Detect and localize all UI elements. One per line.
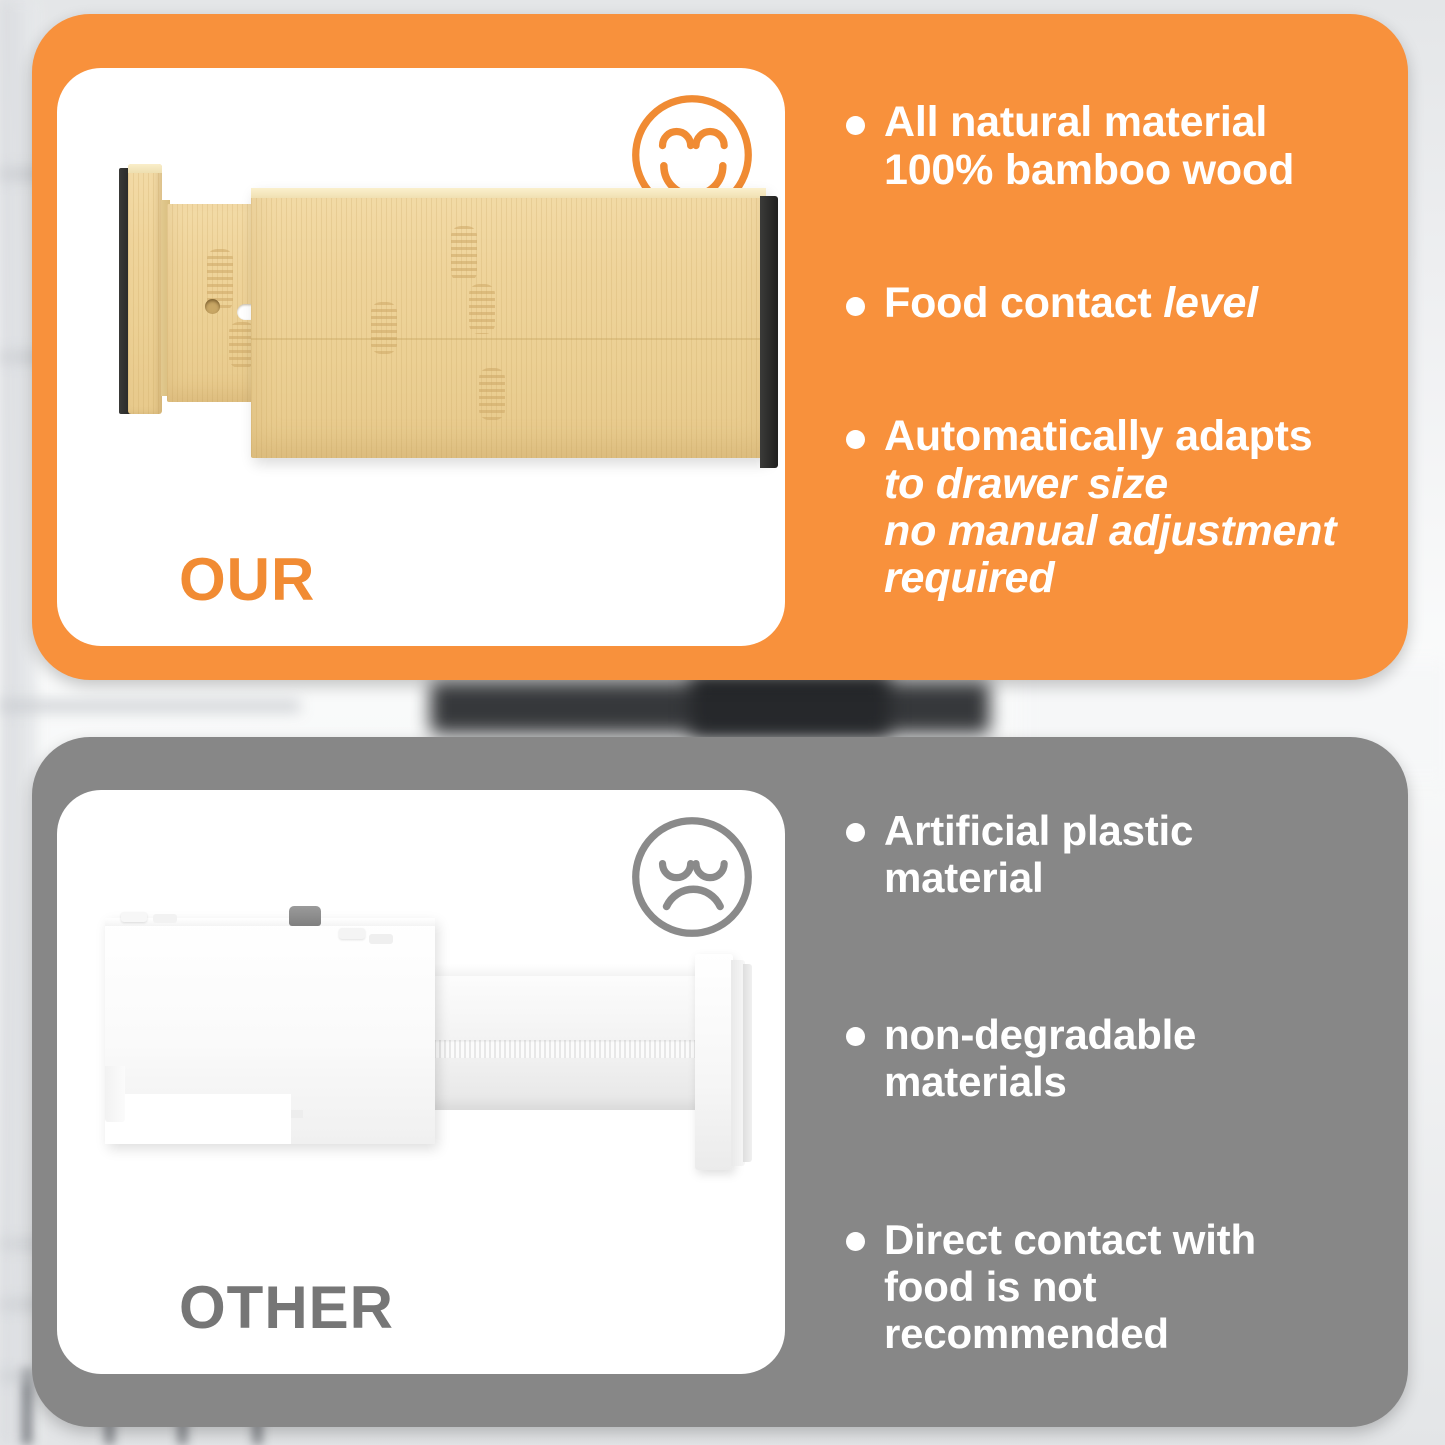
other-label: OTHER — [179, 1278, 394, 1338]
background-dark-blur — [690, 676, 890, 736]
plastic-panel-notch — [105, 1094, 291, 1144]
plastic-front-panel — [105, 918, 435, 1144]
bullet-line: Artificial plastic — [884, 807, 1402, 854]
bullet-line: Food contact level — [884, 280, 1402, 327]
bamboo-right-dark-edge — [760, 196, 778, 468]
bamboo-post-top — [128, 164, 162, 173]
background-shelf-line — [0, 700, 300, 712]
our-product-card: OUR — [57, 68, 785, 646]
bullet-dot-icon — [846, 823, 865, 842]
other-product-panel: OTHER Artificial plastic material non-de… — [32, 737, 1408, 1427]
plastic-top-tab — [339, 928, 365, 939]
bullet-line: 100% bamboo wood — [884, 147, 1402, 194]
list-item: Direct contact with food is not recommen… — [822, 1216, 1402, 1357]
bullet-line: Automatically adapts — [884, 413, 1402, 460]
bullet-line: to drawer size — [884, 461, 1402, 508]
bamboo-drawer-divider-image — [115, 160, 815, 560]
bullet-line: materials — [884, 1058, 1402, 1105]
plastic-gray-button — [289, 906, 321, 926]
bullet-line: no manual adjustment — [884, 508, 1402, 555]
list-item: Automatically adapts to drawer size no m… — [822, 413, 1402, 602]
bullet-line: recommended — [884, 1310, 1402, 1357]
bullet-text-italic: level — [1163, 279, 1258, 327]
bullet-line: required — [884, 555, 1402, 602]
bamboo-screw-hole — [205, 299, 220, 314]
plastic-end-cap — [695, 954, 733, 1170]
bullet-dot-icon — [846, 116, 865, 135]
background-rack-bar — [22, 1370, 32, 1445]
plastic-spring-ribs — [429, 1040, 725, 1058]
bamboo-panel-top-edge — [251, 188, 766, 198]
list-item: non-degradable materials — [822, 1011, 1402, 1105]
our-product-panel: OUR All natural material 100% bamboo woo… — [32, 14, 1408, 680]
list-item: Artificial plastic material — [822, 807, 1402, 901]
plastic-top-tab — [121, 912, 147, 922]
our-benefits-list: All natural material 100% bamboo wood Fo… — [822, 14, 1402, 684]
bamboo-end-post — [128, 164, 162, 414]
plastic-left-flange — [105, 1066, 125, 1122]
our-label: OUR — [179, 550, 315, 610]
other-product-card: OTHER — [57, 790, 785, 1374]
bullet-dot-icon — [846, 430, 865, 449]
bullet-line: material — [884, 854, 1402, 901]
bullet-line: Direct contact with — [884, 1216, 1402, 1263]
plastic-end-cap-rim — [743, 964, 752, 1162]
other-drawbacks-list: Artificial plastic material non-degradab… — [822, 737, 1402, 1427]
list-item: All natural material 100% bamboo wood — [822, 99, 1402, 194]
bamboo-front-panel — [251, 188, 766, 458]
plastic-top-tab — [369, 934, 393, 944]
plastic-top-tab — [153, 914, 177, 923]
white-plastic-drawer-divider-image — [97, 890, 797, 1260]
bullet-dot-icon — [846, 1027, 865, 1046]
plastic-panel-notch-step — [291, 1110, 303, 1118]
bullet-line: food is not — [884, 1263, 1402, 1310]
list-item: Food contact level — [822, 280, 1402, 327]
bullet-text: Food contact — [884, 279, 1163, 327]
bullet-line: non-degradable — [884, 1011, 1402, 1058]
bullet-line: All natural material — [884, 99, 1402, 146]
plastic-rail-top-edge — [427, 964, 727, 976]
bullet-dot-icon — [846, 297, 865, 316]
bamboo-grain-seam — [251, 338, 766, 340]
bullet-dot-icon — [846, 1232, 865, 1251]
